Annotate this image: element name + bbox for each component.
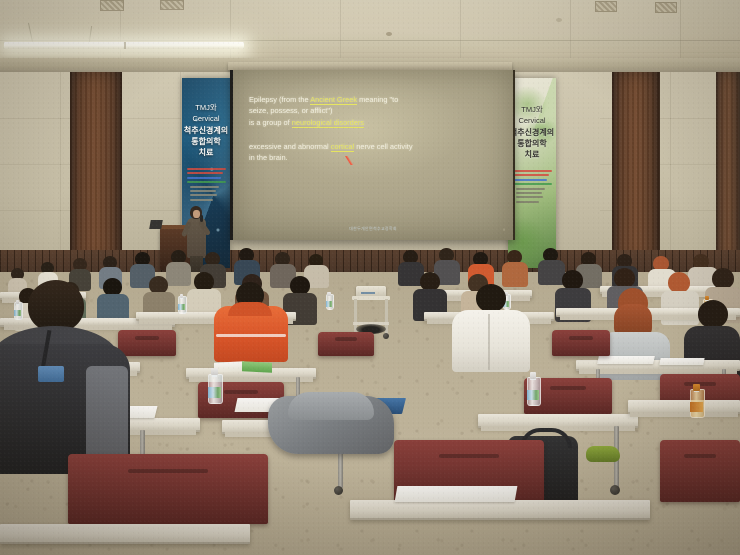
water-bottle xyxy=(690,384,703,418)
slide-paragraph-2: excessive and abnormal cortical nerve ce… xyxy=(249,141,505,164)
banner-left-line1: TMJ와 xyxy=(182,104,230,113)
desk xyxy=(628,400,740,412)
chair xyxy=(660,440,740,502)
banner-right-line2: Cervical xyxy=(508,117,556,126)
banner-right-bullets xyxy=(513,170,552,205)
ceiling xyxy=(0,0,740,62)
projection-screen: Epilepsy (from the Ancient Greek meaning… xyxy=(230,70,515,240)
slide-text-run: Epilepsy (from the xyxy=(249,95,310,104)
slide-footer: 대한두개안면척추교정학회 xyxy=(349,226,397,232)
desk xyxy=(478,414,638,426)
slide-page-number: 9 xyxy=(503,227,505,232)
slide-text-run: in the brain. xyxy=(249,153,288,162)
handout-paper xyxy=(597,356,655,364)
banner-left-line3: 척추신경계의 xyxy=(182,126,230,135)
chair xyxy=(552,330,610,356)
slide-link-term: Ancient Greek xyxy=(310,95,357,105)
water-bottle xyxy=(178,294,185,314)
slide-text-run: is a group of xyxy=(249,118,292,127)
id-badge xyxy=(38,366,64,382)
wood-column-far-right xyxy=(716,72,740,262)
slide-text: Epilepsy (from the Ancient Greek meaning… xyxy=(249,94,505,163)
slide-line: in the brain. xyxy=(249,152,505,163)
water-bottle xyxy=(326,292,332,310)
fluorescent-tube-light xyxy=(4,42,244,49)
wood-column-left xyxy=(70,72,122,262)
slide-link-term: cortical xyxy=(331,142,354,152)
handout-paper xyxy=(659,358,704,365)
slide-paragraph-1: Epilepsy (from the Ancient Greek meaning… xyxy=(249,94,505,128)
slide-line: excessive and abnormal cortical nerve ce… xyxy=(249,141,505,152)
lecture-hall-photo: TMJ와 Cervical 척추신경계의 통합의학 치료 TMJ와 Cervic… xyxy=(0,0,740,555)
laser-pointer-trace xyxy=(336,156,362,165)
banner-left-bullets xyxy=(187,168,226,203)
slide-link-term: neurological disorders xyxy=(292,118,364,128)
chair xyxy=(68,454,268,524)
slide-text-run: nerve cell activity xyxy=(354,142,412,151)
banner-left-line5: 치료 xyxy=(182,148,230,157)
chair xyxy=(118,330,176,356)
microphone-icon xyxy=(200,215,203,222)
banner-right-line1: TMJ와 xyxy=(508,106,556,115)
banner-right-line3: 척추신경계의 xyxy=(508,128,556,137)
banner-right: TMJ와 Cervical 척추신경계의 통합의학 치료 xyxy=(508,78,556,268)
screen-housing xyxy=(228,62,512,70)
slide-text-run: seize, possess, or afflict") xyxy=(249,106,332,115)
jacket-stripe xyxy=(216,334,286,337)
banner-right-line4: 통합의학 xyxy=(508,139,556,148)
desk xyxy=(350,500,650,518)
banner-right-line5: 치료 xyxy=(508,150,556,159)
banner-left-line2: Cervical xyxy=(182,115,230,124)
banner-left-line4: 통합의학 xyxy=(182,137,230,146)
open-book xyxy=(214,362,272,372)
slide-line: seize, possess, or afflict") xyxy=(249,105,505,116)
water-bottle xyxy=(208,368,221,404)
chair xyxy=(318,332,374,356)
shoe xyxy=(586,446,620,462)
jacket-hood xyxy=(228,302,272,316)
water-bottle xyxy=(527,372,539,406)
slide-text-run: meaning "to xyxy=(357,95,398,104)
slide-line: is a group of neurological disorders xyxy=(249,117,505,128)
desk xyxy=(0,524,250,542)
draped-jacket-fold xyxy=(288,392,374,420)
slide-line: Epilepsy (from the Ancient Greek meaning… xyxy=(249,94,505,105)
podium-laptop xyxy=(149,220,163,229)
handout-paper xyxy=(395,486,518,502)
wood-column-right xyxy=(612,72,660,262)
water-bottle xyxy=(14,300,21,320)
slide-text-run: excessive and abnormal xyxy=(249,142,331,151)
